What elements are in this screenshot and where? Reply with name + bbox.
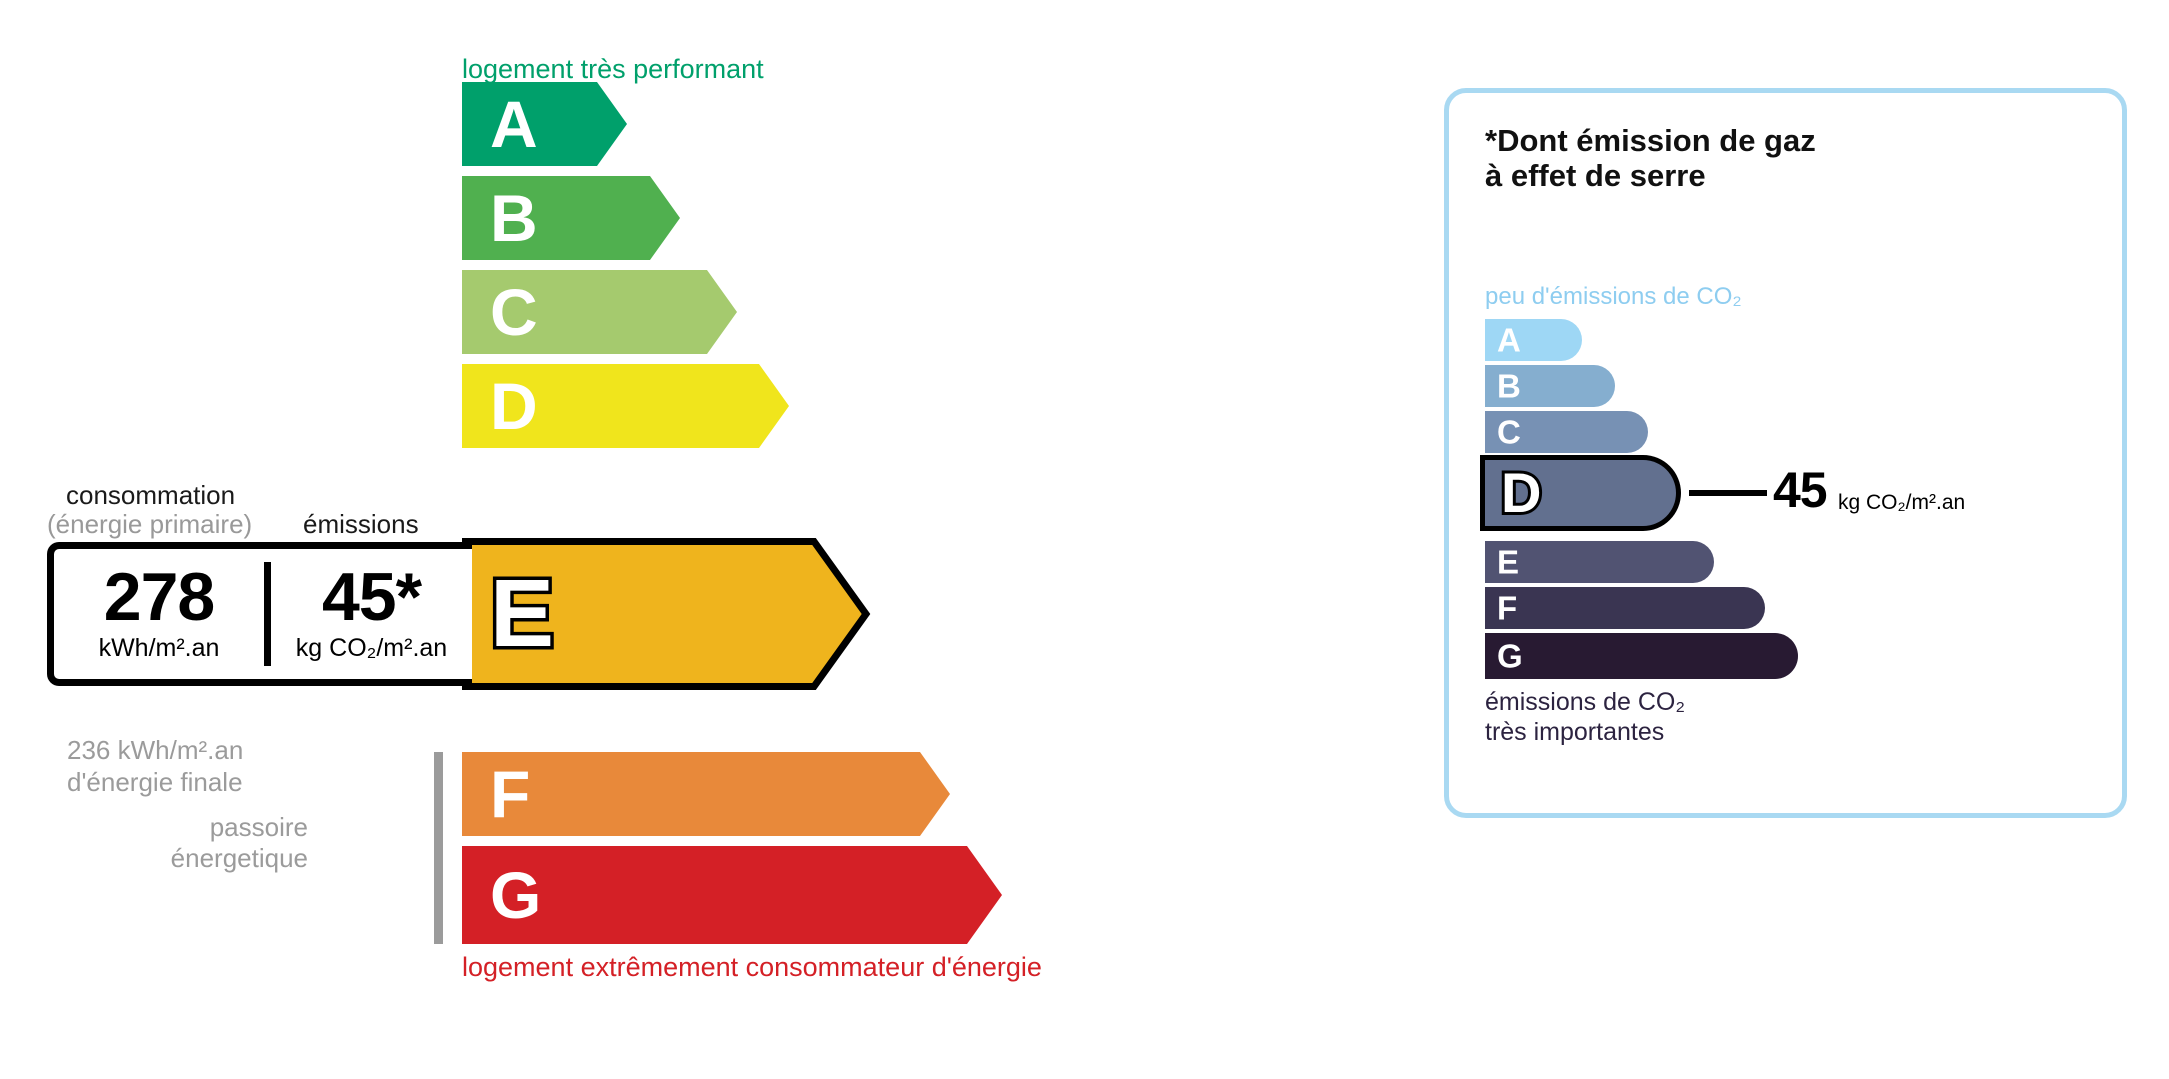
final-energy-footnote: 236 kWh/m².an d'énergie finale (67, 735, 243, 798)
energy-bar-e-selected: E (462, 538, 872, 690)
energy-letter-f: F (490, 761, 530, 827)
co2-bar-shape-a: A (1485, 319, 1582, 361)
energy-letter-g: G (490, 862, 541, 928)
energy-arrow-shape-g (462, 846, 1002, 944)
energy-bar-d: D (462, 364, 789, 448)
co2-bar-g: G (1485, 633, 1798, 679)
energy-bar-f: F (462, 752, 950, 836)
co2-letter-a: A (1497, 324, 1521, 357)
label-emissions: émissions (303, 509, 419, 540)
energy-bar-b: B (462, 176, 680, 260)
co2-bar-shape-e: E (1485, 541, 1714, 583)
energy-letter-c: C (490, 279, 538, 345)
emission-readout: 45* kg CO₂/m².an (271, 549, 472, 679)
consumption-unit: kWh/m².an (99, 634, 220, 663)
co2-bottom-caption: émissions de CO₂ très importantes (1485, 687, 1685, 747)
co2-bar-b: B (1485, 365, 1615, 407)
co2-bar-f: F (1485, 587, 1765, 629)
co2-letter-e: E (1497, 546, 1519, 579)
co2-bar-d-selected: D (1485, 455, 1681, 531)
co2-bar-shape-g: G (1485, 633, 1798, 679)
energy-arrow-shape-f (462, 752, 950, 836)
passoire-line-2: énergetique (158, 843, 308, 874)
co2-bar-a: A (1485, 319, 1582, 361)
energy-letter-b: B (490, 185, 538, 251)
energy-letter-e: E (490, 566, 554, 662)
emission-value: 45* (322, 565, 421, 630)
co2-bar-shape-c: C (1485, 411, 1648, 453)
energy-letter-a: A (490, 91, 538, 157)
energy-bar-g: G (462, 846, 1002, 944)
value-divider (264, 562, 271, 666)
passoire-energetique-marker (434, 752, 443, 944)
co2-panel-title: *Dont émission de gaz à effet de serre (1485, 123, 1816, 193)
co2-bar-shape-d: D (1485, 455, 1681, 531)
energy-bar-a: A (462, 82, 627, 166)
co2-bar-shape-b: B (1485, 365, 1615, 407)
passoire-line-1: passoire (158, 812, 308, 843)
energy-top-caption: logement très performant (462, 54, 764, 85)
consumption-readout: 278 kWh/m².an (54, 549, 264, 679)
label-energie-primaire: (énergie primaire) (47, 509, 252, 540)
co2-emissions-panel: *Dont émission de gaz à effet de serre p… (1444, 88, 2127, 818)
co2-value: 45 (1773, 465, 1827, 515)
dpe-label-root: logement très performant A B (0, 0, 2169, 1079)
emission-unit: kg CO₂/m².an (296, 634, 447, 663)
co2-letter-d: D (1501, 465, 1541, 521)
co2-letter-c: C (1497, 416, 1521, 449)
energy-letter-d: D (490, 373, 538, 439)
label-consommation: consommation (66, 480, 235, 511)
energy-bottom-caption: logement extrêmement consommateur d'éner… (462, 952, 1042, 983)
final-energy-line-1: 236 kWh/m².an (67, 735, 243, 767)
energy-arrow-shape-a (462, 82, 627, 166)
co2-value-unit: kg CO₂/m².an (1838, 491, 1965, 515)
final-energy-line-2: d'énergie finale (67, 767, 243, 799)
co2-leader-line (1689, 490, 1767, 496)
co2-bar-shape-f: F (1485, 587, 1765, 629)
co2-top-caption: peu d'émissions de CO₂ (1485, 283, 1742, 311)
co2-letter-b: B (1497, 370, 1521, 403)
co2-letter-g: G (1497, 640, 1523, 673)
energy-consumption-panel: logement très performant A B (0, 0, 1400, 1079)
value-readout-box: 278 kWh/m².an 45* kg CO₂/m².an (47, 542, 472, 686)
co2-bar-c: C (1485, 411, 1648, 453)
energy-bar-c: C (462, 270, 737, 354)
co2-letter-f: F (1497, 592, 1517, 625)
co2-bar-e: E (1485, 541, 1714, 583)
consumption-value: 278 (104, 565, 214, 630)
passoire-energetique-label: passoire énergetique (158, 812, 308, 874)
